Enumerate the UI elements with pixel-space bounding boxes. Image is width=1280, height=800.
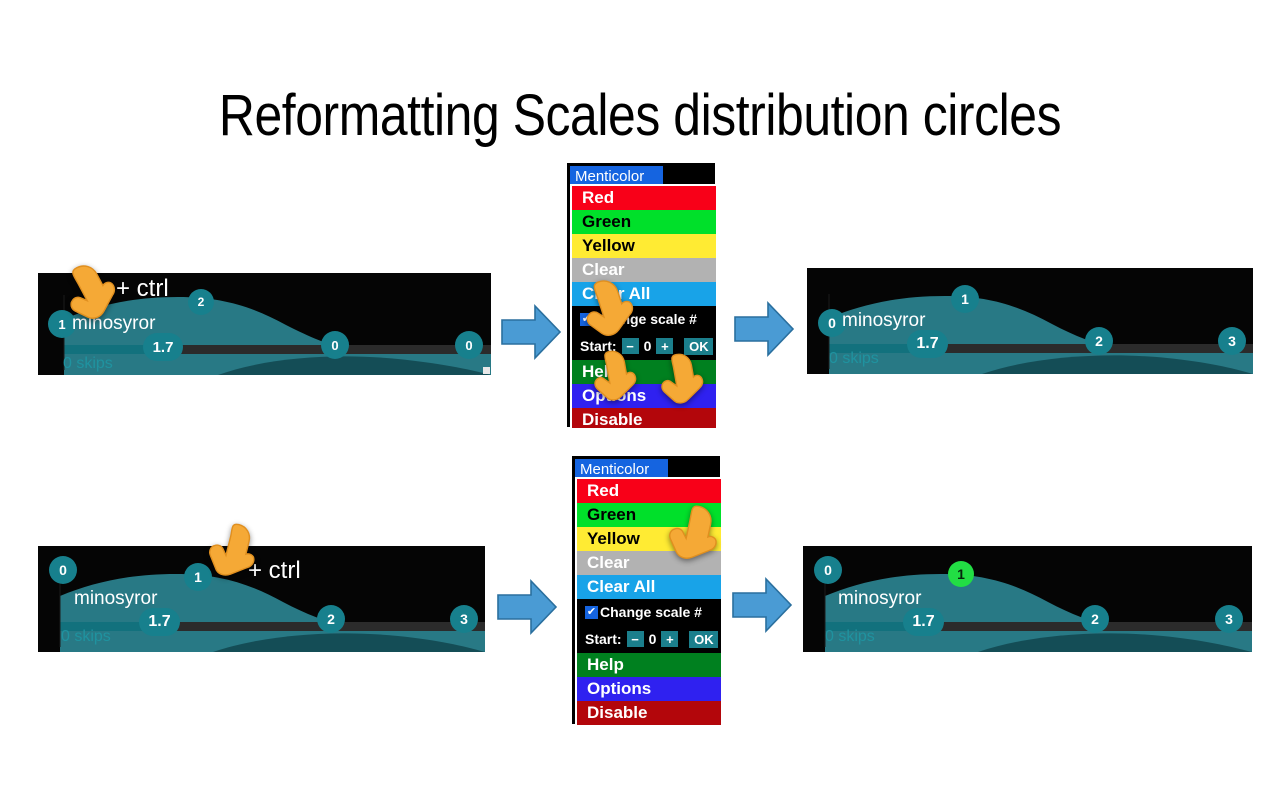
data-point-circle[interactable]: 0 [49, 556, 77, 584]
page-title: Reformatting Scales distribution circles [90, 82, 1191, 150]
start-increment-button[interactable]: + [656, 338, 673, 354]
menu-item-options[interactable]: Options [572, 384, 716, 408]
menu-item-red[interactable]: Red [572, 186, 716, 210]
menu-item-label: Red [587, 481, 619, 501]
slider-value-pill[interactable]: 1.7 [143, 333, 183, 361]
menu-title-text: Menticolor [580, 461, 649, 478]
series-label: minosyror [842, 310, 925, 332]
menu-body: Red Green Yellow Clear Clear All ✔ Chang… [575, 477, 723, 727]
resize-handle[interactable] [483, 367, 490, 374]
data-point-circle[interactable]: 3 [450, 605, 478, 633]
skips-label: 0 skips [63, 355, 113, 373]
ctrl-hint-label: + ctrl [116, 275, 169, 303]
menu-item-help[interactable]: Help [577, 653, 721, 677]
start-ok-button[interactable]: OK [689, 631, 718, 648]
menu-item-green[interactable]: Green [572, 210, 716, 234]
change-scale-checkbox-row[interactable]: ✔ Change scale # [572, 306, 716, 332]
start-stepper-row[interactable]: Start: − 0 + OK [572, 332, 716, 360]
slider-value-pill[interactable]: 1.7 [903, 608, 944, 636]
data-point-circle[interactable]: 1 [951, 285, 979, 313]
menu-item-label: Yellow [587, 529, 640, 549]
menu-item-label: Disable [582, 410, 642, 430]
menu-item-help[interactable]: Help [572, 360, 716, 384]
data-point-circle[interactable]: 2 [1081, 605, 1109, 633]
series-label: minosyror [838, 588, 921, 610]
series-label: minosyror [72, 313, 155, 335]
menu-item-clear-all[interactable]: Clear All [572, 282, 716, 306]
menu-item-label: Options [582, 386, 646, 406]
start-decrement-button[interactable]: − [622, 338, 639, 354]
skips-label: 0 skips [825, 628, 875, 646]
menu-item-label: Clear All [587, 577, 655, 597]
menu-item-clear[interactable]: Clear [572, 258, 716, 282]
data-point-circle[interactable]: 2 [188, 289, 214, 315]
menu-item-green[interactable]: Green [577, 503, 721, 527]
checkbox-checked-icon[interactable]: ✔ [585, 606, 598, 619]
flow-arrow-right [500, 303, 562, 366]
menu-item-label: Clear [587, 553, 630, 573]
series-label: minosyror [74, 588, 157, 610]
checkbox-label: Change scale # [600, 604, 702, 620]
menu-item-label: Help [582, 362, 619, 382]
start-value: 0 [649, 631, 657, 647]
start-label: Start: [585, 631, 622, 647]
checkbox-checked-icon[interactable]: ✔ [580, 313, 593, 326]
menu-title-text: Menticolor [575, 168, 644, 185]
menticolor-menu-top[interactable]: Menticolor Red Green Yellow Clear Clear … [567, 163, 715, 427]
slider-value-pill[interactable]: 1.7 [139, 608, 180, 636]
data-point-circle[interactable]: 3 [1218, 327, 1246, 355]
skips-label: 0 skips [61, 628, 111, 646]
menu-item-label: Red [582, 188, 614, 208]
menu-item-label: Help [587, 655, 624, 675]
menu-item-label: Clear All [582, 284, 650, 304]
menu-item-clear[interactable]: Clear [577, 551, 721, 575]
checkbox-label: Change scale # [595, 311, 697, 327]
slide-canvas: Reformatting Scales distribution circles… [0, 0, 1280, 800]
menu-item-red[interactable]: Red [577, 479, 721, 503]
data-point-circle[interactable]: 0 [455, 331, 483, 359]
data-point-circle[interactable]: 3 [1215, 605, 1243, 633]
start-decrement-button[interactable]: − [627, 631, 644, 647]
menu-item-label: Options [587, 679, 651, 699]
start-stepper-row[interactable]: Start: − 0 + OK [577, 625, 721, 653]
menu-item-disable[interactable]: Disable [577, 701, 721, 725]
data-point-circle[interactable]: 0 [814, 556, 842, 584]
slider-value-pill[interactable]: 1.7 [907, 330, 948, 358]
data-point-circle[interactable]: 1 [184, 563, 212, 591]
menticolor-menu-bottom[interactable]: Menticolor Red Green Yellow Clear Clear … [572, 456, 720, 724]
menu-titlebar[interactable]: Menticolor [575, 459, 668, 479]
menu-item-label: Clear [582, 260, 625, 280]
menu-item-clear-all[interactable]: Clear All [577, 575, 721, 599]
data-point-circle[interactable]: 2 [1085, 327, 1113, 355]
menu-body: Red Green Yellow Clear Clear All ✔ Chang… [570, 184, 718, 430]
flow-arrow-right [731, 576, 793, 639]
menu-item-label: Yellow [582, 236, 635, 256]
start-increment-button[interactable]: + [661, 631, 678, 647]
menu-item-options[interactable]: Options [577, 677, 721, 701]
start-ok-button[interactable]: OK [684, 338, 713, 355]
start-label: Start: [580, 338, 617, 354]
flow-arrow-right [733, 300, 795, 363]
chart-panel-top-left[interactable]: 1 2 0 0 1.7 minosyror 0 skips [38, 273, 491, 375]
chart-panel-top-right[interactable]: 0 1 2 3 1.7 minosyror 0 skips [807, 268, 1253, 374]
menu-item-yellow[interactable]: Yellow [577, 527, 721, 551]
data-point-circle-highlighted[interactable]: 1 [948, 561, 974, 587]
menu-item-disable[interactable]: Disable [572, 408, 716, 430]
change-scale-checkbox-row[interactable]: ✔ Change scale # [577, 599, 721, 625]
skips-label: 0 skips [829, 350, 879, 368]
data-point-circle[interactable]: 2 [317, 605, 345, 633]
menu-titlebar[interactable]: Menticolor [570, 166, 663, 186]
menu-item-yellow[interactable]: Yellow [572, 234, 716, 258]
menu-item-label: Green [582, 212, 631, 232]
menu-item-label: Disable [587, 703, 647, 723]
flow-arrow-right [496, 578, 558, 641]
data-point-circle[interactable]: 0 [321, 331, 349, 359]
chart-panel-bottom-right[interactable]: 0 1 2 3 1.7 minosyror 0 skips [803, 546, 1252, 652]
start-value: 0 [644, 338, 652, 354]
ctrl-hint-label: + ctrl [248, 557, 301, 585]
menu-item-label: Green [587, 505, 636, 525]
